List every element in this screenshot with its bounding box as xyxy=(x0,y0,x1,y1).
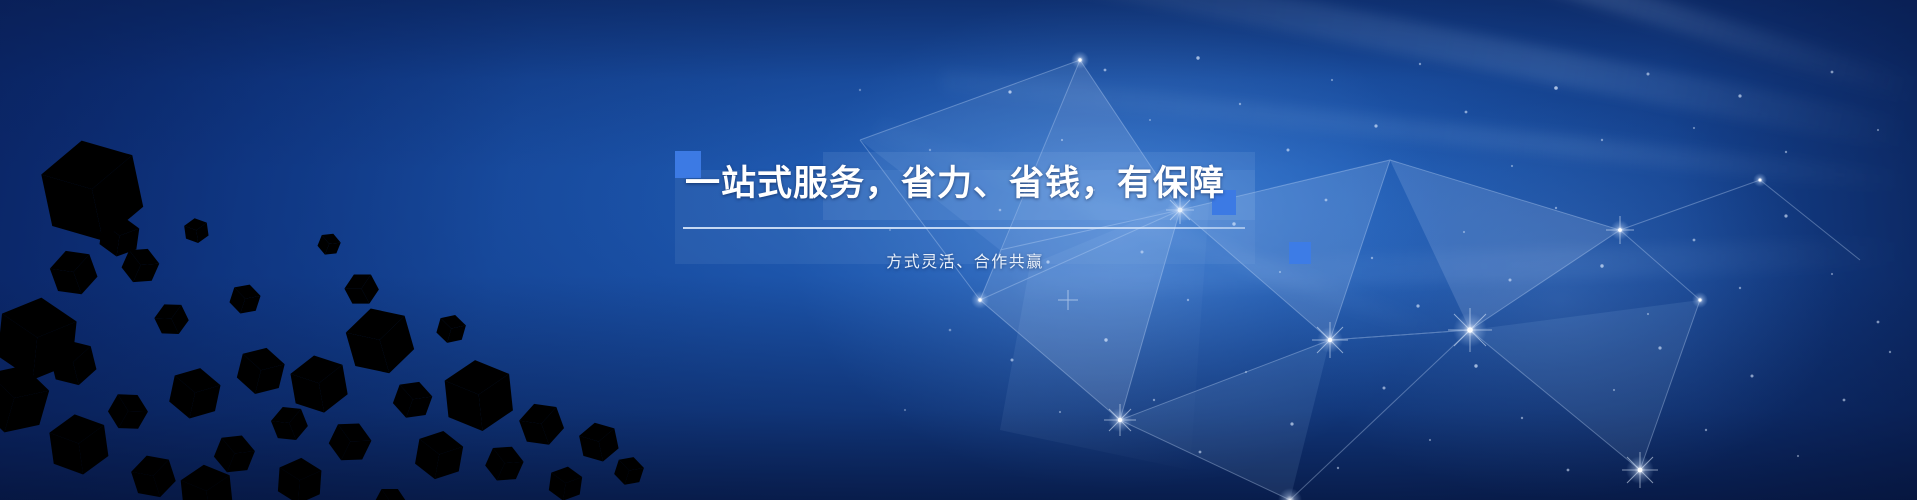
hero-banner: .c1 .t{fill:#cfe0f5}.c1 .l{fill:#2f63b8}… xyxy=(0,0,1917,500)
square-accent-float-icon xyxy=(1289,242,1311,264)
banner-subtitle: 方式灵活、合作共赢 xyxy=(675,248,1255,272)
banner-headline: 一站式服务，省力、省钱，有保障 xyxy=(685,166,1225,201)
headline-divider xyxy=(683,227,1245,229)
